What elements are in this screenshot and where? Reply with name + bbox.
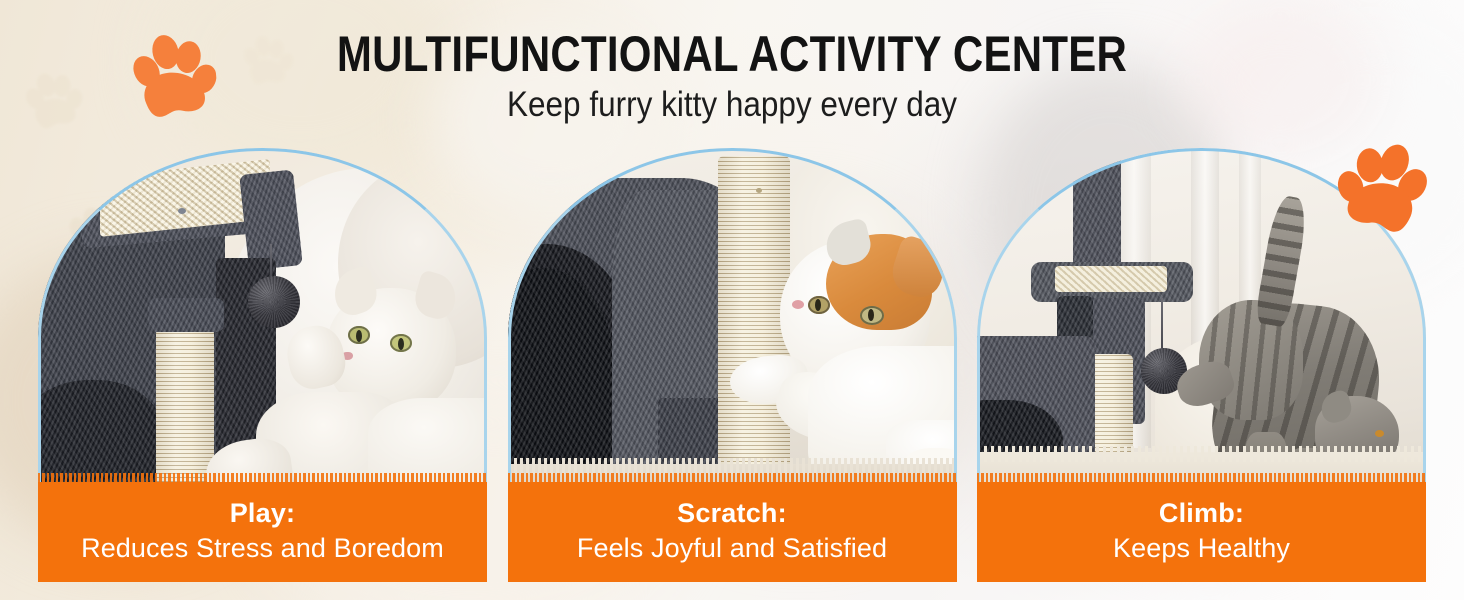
cat-play-scene (38, 148, 487, 498)
panel-caption-climb: Climb: Keeps Healthy (977, 482, 1426, 582)
caption-subtitle: Reduces Stress and Boredom (81, 530, 444, 566)
caption-fringe (977, 473, 1426, 483)
panel-caption-scratch: Scratch: Feels Joyful and Satisfied (508, 482, 957, 582)
caption-title: Play: (230, 496, 296, 530)
panel-photo-play (38, 148, 487, 498)
caption-title: Climb: (1159, 496, 1244, 530)
feature-panel-play[interactable]: Play: Reduces Stress and Boredom (38, 148, 487, 582)
paw-print-icon (125, 24, 221, 128)
panel-photo-scratch (508, 148, 957, 498)
caption-subtitle: Keeps Healthy (1113, 530, 1290, 566)
caption-subtitle: Feels Joyful and Satisfied (577, 530, 887, 566)
caption-fringe (508, 473, 957, 483)
panel-caption-play: Play: Reduces Stress and Boredom (38, 482, 487, 582)
caption-fringe (38, 473, 487, 483)
cat-scratch-scene (508, 148, 957, 498)
product-feature-banner: MULTIFUNCTIONAL ACTIVITY CENTER Keep fur… (0, 0, 1464, 600)
page-title: MULTIFUNCTIONAL ACTIVITY CENTER (117, 26, 1347, 82)
feature-panel-scratch[interactable]: Scratch: Feels Joyful and Satisfied (508, 148, 957, 582)
feature-panel-row: Play: Reduces Stress and Boredom (38, 148, 1426, 582)
page-subtitle: Keep furry kitty happy every day (73, 84, 1391, 126)
caption-title: Scratch: (677, 496, 787, 530)
